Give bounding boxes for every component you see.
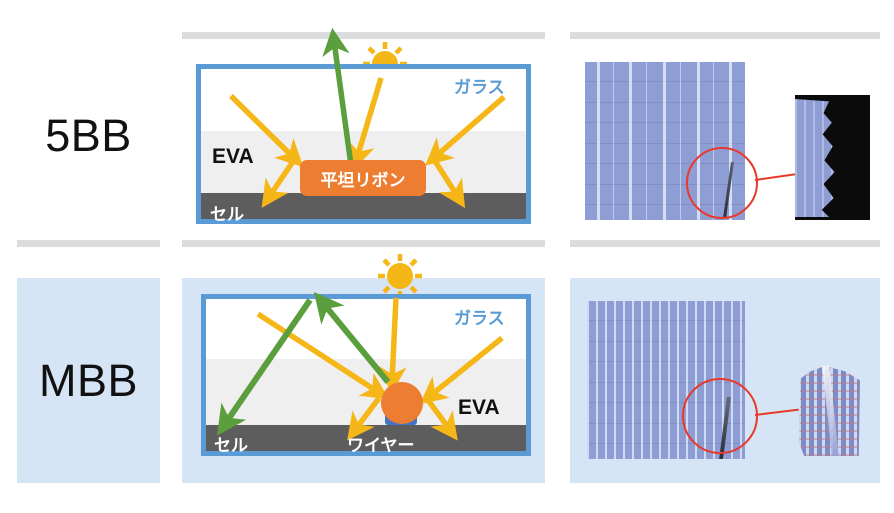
label-eva-mbb: EVA bbox=[458, 396, 500, 420]
busbar bbox=[629, 62, 632, 220]
diagram-panel-5bb: ガラス EVA セル 平坦リボン bbox=[182, 40, 545, 230]
divider-mid-col1 bbox=[17, 240, 160, 247]
magnifier-leader-mbb bbox=[755, 409, 799, 416]
round-wire-mbb bbox=[381, 382, 423, 424]
photo-panel-mbb bbox=[570, 278, 880, 483]
label-glass-5bb: ガラス bbox=[454, 73, 505, 98]
scattered-ray-left-down bbox=[269, 160, 294, 197]
scattered-ray-right-down bbox=[435, 161, 458, 197]
magnifier-leader-5bb bbox=[755, 173, 797, 181]
recaptured-ray-green-up bbox=[323, 303, 388, 382]
label-cell-mbb: セル bbox=[214, 431, 248, 456]
incident-ray-top bbox=[392, 298, 396, 381]
incident-ray-top bbox=[357, 78, 381, 158]
scattered-ray-left-down bbox=[355, 398, 379, 430]
scattered-ray-right-down bbox=[428, 400, 450, 430]
busbar bbox=[597, 62, 600, 220]
label-cell-5bb: セル bbox=[210, 200, 244, 225]
row-label-panel-5bb: 5BB bbox=[17, 40, 160, 230]
magnifier-circle-mbb bbox=[682, 378, 758, 454]
escaping-ray-green bbox=[334, 41, 351, 165]
row-label-5bb: 5BB bbox=[45, 113, 132, 158]
divider-mid-col3 bbox=[570, 240, 880, 247]
busbar bbox=[663, 62, 666, 220]
label-glass-mbb: ガラス bbox=[454, 304, 505, 329]
divider-mid-col2 bbox=[182, 240, 545, 247]
divider-top-col2 bbox=[182, 32, 545, 39]
magnified-crop-5bb bbox=[795, 95, 870, 220]
label-wire-mbb: ワイヤー bbox=[347, 431, 415, 456]
magnifier-circle-5bb bbox=[686, 147, 758, 219]
incident-ray-right bbox=[430, 338, 502, 396]
divider-top-col3 bbox=[570, 32, 880, 39]
figure-root: 5BB bbox=[0, 0, 894, 513]
row-label-mbb: MBB bbox=[39, 358, 138, 403]
magnified-crop-mbb bbox=[798, 366, 860, 456]
row-label-panel-mbb: MBB bbox=[17, 278, 160, 483]
flat-ribbon-5bb: 平坦リボン bbox=[300, 160, 426, 196]
diagram-panel-mbb: ガラス EVA セル ワイヤー bbox=[182, 278, 545, 483]
incident-ray-right bbox=[435, 97, 504, 157]
photo-panel-5bb bbox=[570, 40, 880, 230]
label-eva-5bb: EVA bbox=[212, 145, 254, 169]
